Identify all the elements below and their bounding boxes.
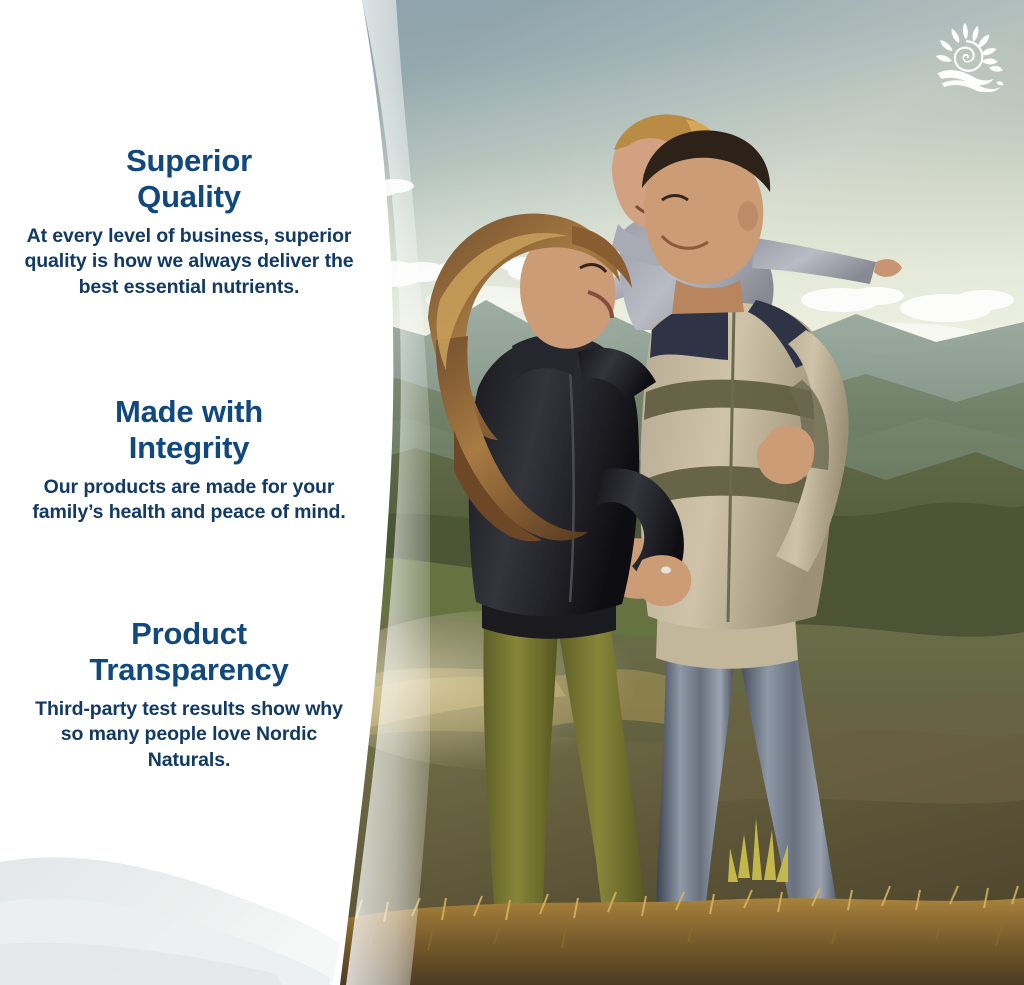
- benefit-body: Our products are made for your family’s …: [24, 475, 354, 526]
- benefits-text-column: SuperiorQuality At every level of busine…: [24, 0, 354, 985]
- benefit-heading-line-2: Transparency: [89, 652, 288, 687]
- benefit-heading-line-2: Integrity: [129, 430, 250, 465]
- benefit-heading: ProductTransparency: [24, 616, 354, 689]
- benefit-body: At every level of business, superior qua…: [24, 224, 354, 301]
- benefit-body: Third-party test results show why so man…: [24, 697, 354, 774]
- benefit-heading-line-2: Quality: [137, 179, 241, 214]
- family-outdoor-photo: [336, 0, 1024, 985]
- nordic-naturals-sun-wave-logo-icon: [932, 20, 1006, 92]
- benefit-heading-line-1: Made with: [115, 394, 263, 429]
- benefit-heading-line-1: Superior: [126, 143, 252, 178]
- benefit-heading: Made withIntegrity: [24, 394, 354, 467]
- benefit-block-product-transparency: ProductTransparency Third-party test res…: [24, 616, 354, 774]
- photo-illustration: [336, 0, 1024, 985]
- benefit-block-superior-quality: SuperiorQuality At every level of busine…: [24, 143, 354, 301]
- benefit-block-made-with-integrity: Made withIntegrity Our products are made…: [24, 394, 354, 526]
- promo-banner: SuperiorQuality At every level of busine…: [0, 0, 1024, 985]
- benefit-heading-line-1: Product: [131, 616, 247, 651]
- sun-wave-icon: [932, 20, 1006, 92]
- benefit-heading: SuperiorQuality: [24, 143, 354, 216]
